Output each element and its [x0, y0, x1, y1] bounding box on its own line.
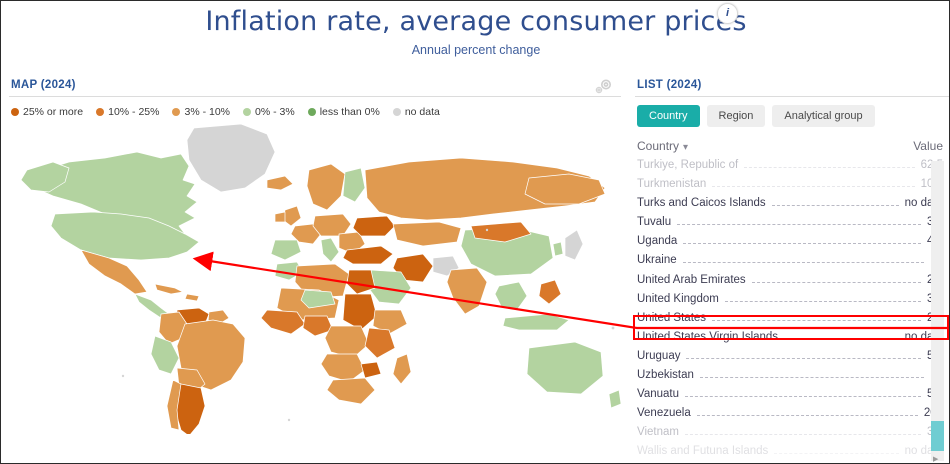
scroll-down-arrow-icon[interactable]: ▶: [933, 455, 938, 463]
legend-label: 3% - 10%: [184, 106, 230, 118]
country-iceland: [267, 176, 293, 190]
country-greenland: [187, 124, 275, 192]
leader-dots: [700, 370, 924, 378]
world-choropleth-map[interactable]: [9, 124, 621, 434]
app-screenshot: Inflation rate, average consumer prices …: [0, 0, 950, 464]
legend-swatch: [96, 108, 104, 116]
list-item-name: United Kingdom: [637, 293, 719, 305]
list-item[interactable]: Uzbekistan10: [635, 369, 949, 388]
map-panel-caption: MAP (2024): [9, 73, 621, 96]
list-item-name: Uzbekistan: [637, 369, 694, 381]
list-item[interactable]: Tuvalu3.8: [635, 216, 949, 235]
list-scrollbar-thumb[interactable]: [931, 421, 944, 451]
tab-analytical-group[interactable]: Analytical group: [772, 105, 874, 127]
legend-label: 10% - 25%: [108, 106, 159, 118]
list-item-name: Venezuela: [637, 407, 691, 419]
list-item-name: United Arab Emirates: [637, 274, 746, 286]
legend-item[interactable]: 10% - 25%: [96, 106, 159, 118]
leader-dots: [697, 408, 918, 416]
list-item[interactable]: Wallis and Futuna Islandsno data: [635, 445, 949, 464]
country-spain: [271, 240, 301, 260]
legend-swatch: [11, 108, 19, 116]
country-west-africa: [261, 310, 305, 334]
country-indonesia: [503, 314, 569, 330]
page-subtitle: Annual percent change: [1, 43, 950, 57]
page-header: Inflation rate, average consumer prices …: [1, 1, 950, 67]
map-legend: 25% or more 10% - 25% 3% - 10% 0% - 3% l…: [9, 97, 621, 124]
list-view-tabs: Country Region Analytical group: [635, 97, 949, 137]
list-column-headers: Country▾ Value: [635, 137, 949, 159]
list-item[interactable]: United Arab Emirates2.3: [635, 274, 949, 293]
tab-region[interactable]: Region: [707, 105, 766, 127]
list-item-name: Vietnam: [637, 426, 679, 438]
legend-label: 0% - 3%: [255, 106, 295, 118]
list-item[interactable]: Venezuela200: [635, 407, 949, 426]
country-japan: [565, 230, 583, 260]
country-drc: [325, 326, 369, 358]
legend-item[interactable]: less than 0%: [308, 106, 380, 118]
list-item-name: Turkiye, Republic of: [637, 159, 738, 171]
leader-dots: [685, 389, 921, 397]
leader-dots: [686, 351, 921, 359]
legend-swatch: [393, 108, 401, 116]
leader-dots: [712, 313, 921, 321]
country-united-kingdom: [283, 206, 301, 226]
list-item-name: Turks and Caicos Islands: [637, 197, 766, 209]
legend-swatch: [308, 108, 316, 116]
list-panel: LIST (2024) Country Region Analytical gr…: [635, 73, 949, 463]
leader-dots: [725, 294, 921, 302]
list-item-name: Ukraine: [637, 254, 677, 266]
tab-country[interactable]: Country: [637, 105, 700, 127]
list-item[interactable]: Vietnam3.4: [635, 426, 949, 445]
country-south-africa: [327, 378, 375, 404]
country-philippines: [539, 280, 561, 304]
list-item-name: United States: [637, 312, 706, 324]
legend-swatch: [172, 108, 180, 116]
list-item-name: Uruguay: [637, 350, 680, 362]
info-icon[interactable]: i: [717, 3, 738, 24]
list-item[interactable]: United States Virgin Islandsno data: [635, 331, 949, 350]
legend-item[interactable]: no data: [393, 106, 440, 118]
country-australia: [527, 342, 603, 394]
list-panel-caption: LIST (2024): [635, 73, 949, 96]
leader-dots: [712, 179, 914, 187]
legend-swatch: [243, 108, 251, 116]
column-header-country[interactable]: Country▾: [637, 139, 688, 153]
list-item[interactable]: Uganda4.7: [635, 235, 949, 254]
country-germany-poland: [313, 214, 351, 236]
list-item-name: Uganda: [637, 235, 677, 247]
list-scrollbar-track[interactable]: [931, 161, 944, 461]
country-madagascar: [393, 354, 411, 384]
list-item[interactable]: Vanuatu5.7: [635, 388, 949, 407]
country-angola-zambia: [321, 354, 365, 382]
gear-icon[interactable]: [589, 77, 615, 99]
country-southeast-asia: [495, 282, 527, 310]
list-item[interactable]: Turkmenistan10.5: [635, 178, 949, 197]
country-ukraine: [353, 216, 395, 236]
list-item-united-states[interactable]: United States2.8: [635, 312, 949, 331]
list-item-name: United States Virgin Islands: [637, 331, 778, 343]
country-norway-sweden: [307, 164, 345, 210]
country-finland: [343, 168, 365, 202]
list-item-name: Tuvalu: [637, 216, 671, 228]
legend-item[interactable]: 3% - 10%: [172, 106, 230, 118]
leader-dots: [784, 332, 899, 340]
legend-item[interactable]: 0% - 3%: [243, 106, 295, 118]
country-italy: [321, 238, 339, 262]
list-item[interactable]: Turkiye, Republic of62.5: [635, 159, 949, 178]
list-item-name: Turkmenistan: [637, 178, 706, 190]
country-india: [447, 268, 487, 314]
country-korea: [553, 242, 563, 256]
leader-dots: [772, 198, 899, 206]
page-title: Inflation rate, average consumer prices: [1, 6, 950, 37]
country-new-zealand: [609, 390, 621, 408]
legend-label: less than 0%: [320, 106, 380, 118]
list-item[interactable]: Ukraine13: [635, 254, 949, 273]
leader-dots: [752, 275, 921, 283]
country-list[interactable]: Turkiye, Republic of62.5 Turkmenistan10.…: [635, 159, 949, 464]
leader-dots: [685, 427, 921, 435]
list-item[interactable]: Turks and Caicos Islandsno data: [635, 197, 949, 216]
legend-label: no data: [405, 106, 440, 118]
chevron-down-icon[interactable]: ▾: [683, 142, 688, 153]
list-item-name: Wallis and Futuna Islands: [637, 445, 768, 457]
country-ireland: [275, 212, 285, 222]
leader-dots: [677, 217, 921, 225]
leader-dots: [683, 255, 925, 263]
country-sudan: [343, 294, 377, 330]
country-hispaniola: [185, 294, 199, 301]
map-panel: MAP (2024) 25% or more 1: [9, 73, 621, 459]
column-header-value[interactable]: Value: [913, 139, 943, 153]
list-item[interactable]: United Kingdom3.7: [635, 293, 949, 312]
leader-dots: [774, 446, 898, 454]
list-item[interactable]: Uruguay5.9: [635, 350, 949, 369]
leader-dots: [744, 160, 914, 168]
country-zimbabwe: [361, 362, 381, 378]
column-header-country-label: Country: [637, 139, 679, 153]
leader-dots: [683, 236, 921, 244]
country-kazakhstan: [393, 222, 461, 246]
country-cuba: [155, 284, 183, 294]
legend-label: 25% or more: [23, 106, 83, 118]
legend-item[interactable]: 25% or more: [11, 106, 83, 118]
list-item-name: Vanuatu: [637, 388, 679, 400]
